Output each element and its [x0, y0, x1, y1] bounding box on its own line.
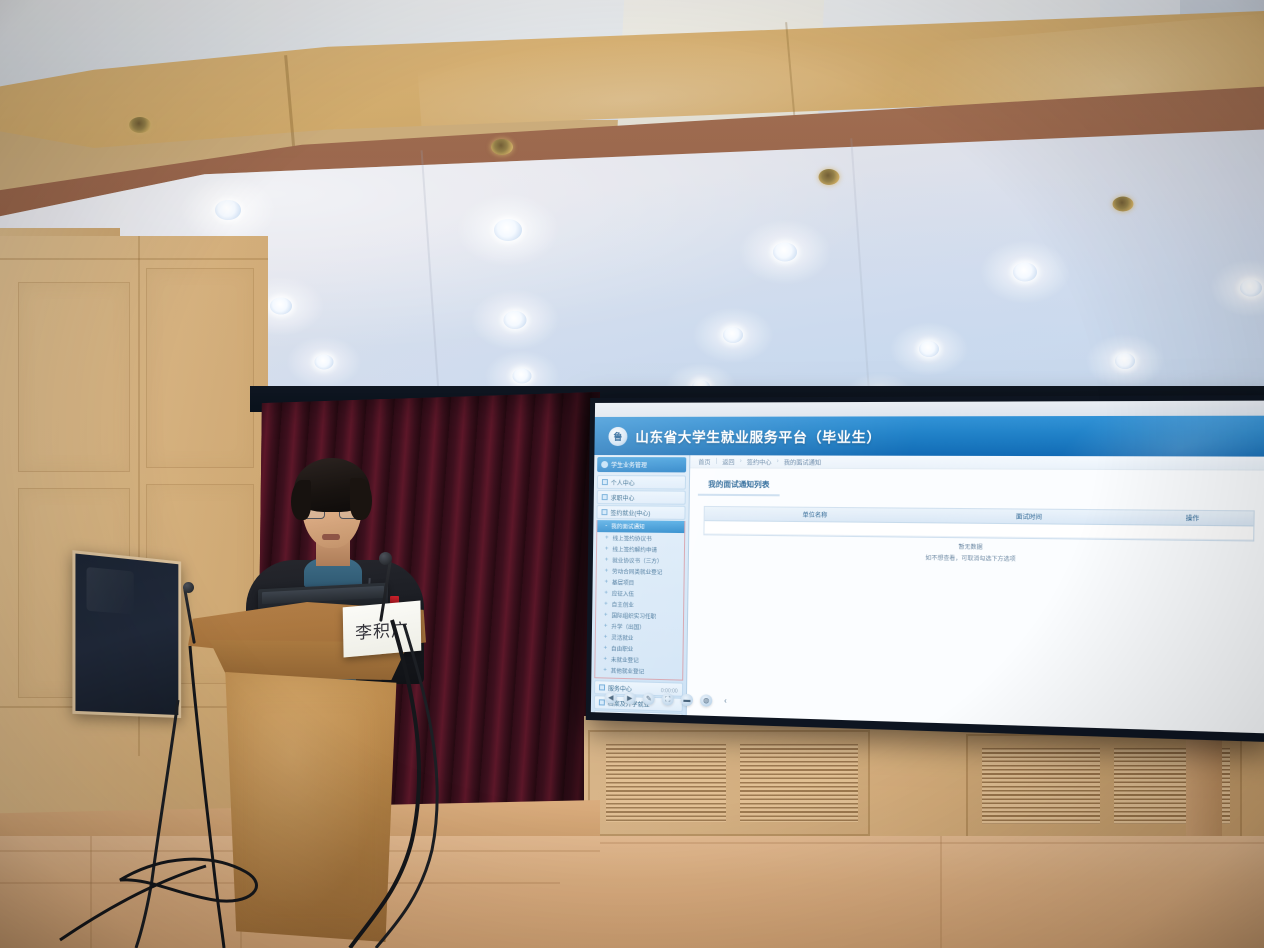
downlight-brass-2: [484, 132, 520, 162]
sidebar-item-label: 国际组织实习任职: [611, 611, 656, 620]
sidebar-group-label: 征兵入伍: [608, 713, 632, 715]
wall-panel-1: [18, 282, 130, 472]
led-screen: 鲁 山东省大学生就业服务平台（毕业生） 学生业务管理 个人中心: [586, 395, 1264, 742]
back-icon[interactable]: ‹: [719, 695, 731, 708]
microphone-head-2: [183, 582, 194, 593]
breadcrumb-item-current: 我的面试通知: [784, 457, 821, 466]
breadcrumb-separator: ›: [740, 458, 742, 464]
sidebar-group-personal[interactable]: 个人中心: [597, 475, 686, 490]
floor: [0, 836, 1264, 948]
sidebar-item-label: 自由职业: [611, 644, 633, 653]
column-header-company: 单位名称: [705, 509, 928, 520]
downlight-9: [908, 332, 950, 365]
folder-icon: [602, 494, 608, 500]
downlight-2: [480, 208, 536, 252]
sidebar: 学生业务管理 个人中心 求职中心 签约就业(中心): [591, 455, 691, 715]
sidebar-item-label: 升学（出国）: [611, 622, 645, 631]
main-content: 首页 | 返回 › 签约中心 › 我的面试通知 我的面试通知列表 单位名称: [687, 455, 1264, 733]
cell-company: [705, 527, 928, 529]
cell-action: [1132, 532, 1253, 533]
sidebar-item-other[interactable]: 其他就业登记: [595, 664, 682, 677]
vent-louvers-1: [606, 744, 726, 822]
downlight-brass-1: [122, 110, 158, 140]
breadcrumb-item-home[interactable]: 首页: [698, 457, 710, 466]
podium-body: [218, 672, 400, 942]
sidebar-item-label: 未就业登记: [611, 655, 639, 664]
podium-grain: [218, 672, 400, 942]
sidebar-header-icon: [601, 461, 608, 468]
sidebar-item-label: 我的面试通知: [611, 522, 645, 530]
downlight-brass-3: [812, 163, 846, 191]
interview-notice-table: 单位名称 面试时间 操作: [703, 506, 1254, 542]
folder-icon: [602, 479, 608, 485]
vent-frame-1: [588, 730, 870, 836]
cell-time: [928, 530, 1133, 532]
app-header: 鲁 山东省大学生就业服务平台（毕业生）: [594, 416, 1264, 457]
sidebar-item-label: 就业协议书（三方）: [612, 556, 662, 565]
downlight-3: [760, 232, 810, 272]
downlight-1: [200, 188, 256, 232]
downlight-10: [1104, 344, 1146, 377]
vent-louvers-2: [740, 744, 858, 822]
previous-icon[interactable]: ◀: [605, 692, 617, 704]
vent-louvers-3: [982, 748, 1100, 824]
sidebar-item-label: 线上签约解约申请: [612, 545, 657, 554]
browser-chrome-strip: [595, 401, 1264, 417]
sidebar-item-label: 线上签约协议书: [613, 534, 652, 542]
sidebar-group-jobsearch[interactable]: 求职中心: [597, 490, 686, 505]
sidebar-item-label: 自主创业: [612, 600, 634, 608]
floor-board-6: [940, 836, 942, 948]
downlight-7: [492, 302, 538, 338]
breadcrumb: 首页 | 返回 › 签约中心 › 我的面试通知: [690, 455, 1264, 470]
app-title: 山东省大学生就业服务平台（毕业生）: [635, 426, 881, 447]
sidebar-header[interactable]: 学生业务管理: [597, 457, 686, 472]
sidebar-group-label: 求职中心: [611, 493, 635, 502]
breadcrumb-item-signing[interactable]: 签约中心: [747, 457, 772, 466]
fullscreen-icon[interactable]: ⛶: [662, 693, 674, 705]
wall-seam-1: [0, 258, 268, 260]
sidebar-header-label: 学生业务管理: [611, 460, 647, 469]
sidebar-group-label: 个人中心: [611, 478, 635, 487]
breadcrumb-separator: |: [716, 458, 718, 464]
folder-icon: [601, 509, 607, 515]
presentation-room-photo: 鲁 山东省大学生就业服务平台（毕业生） 学生业务管理 个人中心: [0, 0, 1264, 948]
sidebar-group-signing[interactable]: 签约就业(中心): [596, 505, 685, 520]
downlight-11: [304, 346, 344, 377]
column-header-action: 操作: [1132, 513, 1253, 524]
downlight-8: [712, 318, 754, 351]
web-application[interactable]: 鲁 山东省大学生就业服务平台（毕业生） 学生业务管理 个人中心: [591, 401, 1264, 734]
presenter-hair-side-left: [291, 480, 311, 520]
microphone-head: [379, 552, 392, 565]
floor-board-4: [90, 836, 92, 948]
sidebar-item-label: 灵活就业: [611, 633, 633, 642]
wall-panel-2: [146, 268, 254, 468]
play-icon[interactable]: ▶: [624, 692, 636, 704]
sidebar-item-label: 基层项目: [612, 578, 634, 586]
sidebar-submenu: 我的面试通知 线上签约协议书 线上签约解约申请 就业协议书（三方） 劳动合同类就…: [594, 520, 685, 681]
breadcrumb-item-back[interactable]: 返回: [722, 457, 734, 466]
sidebar-item-label: 应征入伍: [612, 589, 634, 597]
globe-icon[interactable]: ◍: [700, 694, 712, 707]
sidebar-item-interview-notices[interactable]: 我的面试通知: [597, 520, 684, 533]
column-header-time: 面试时间: [928, 511, 1133, 522]
sidebar-item-label: 其他就业登记: [611, 666, 645, 675]
folder-icon: [599, 714, 605, 715]
wall-display-panel: [72, 550, 181, 718]
sidebar-group-label: 签约就业(中心): [610, 508, 650, 517]
sidebar-item-label: 劳动合同类就业登记: [612, 567, 662, 576]
presenter-hair-side-right: [350, 478, 372, 520]
downlight-brass-4: [1106, 190, 1140, 218]
presenter-mouth: [322, 534, 340, 540]
laptop-screen: [262, 586, 384, 604]
screen-surface[interactable]: 鲁 山东省大学生就业服务平台（毕业生） 学生业务管理 个人中心: [591, 401, 1264, 734]
page-title: 我的面试通知列表: [698, 472, 780, 496]
floor-board-3: [600, 842, 1264, 844]
breadcrumb-separator: ›: [777, 459, 779, 465]
app-logo-icon: 鲁: [608, 426, 627, 445]
downlight-4: [1000, 252, 1050, 292]
pen-icon[interactable]: ✎: [643, 693, 655, 705]
panel-sheen: [86, 567, 134, 615]
video-icon[interactable]: ▬: [681, 694, 693, 706]
